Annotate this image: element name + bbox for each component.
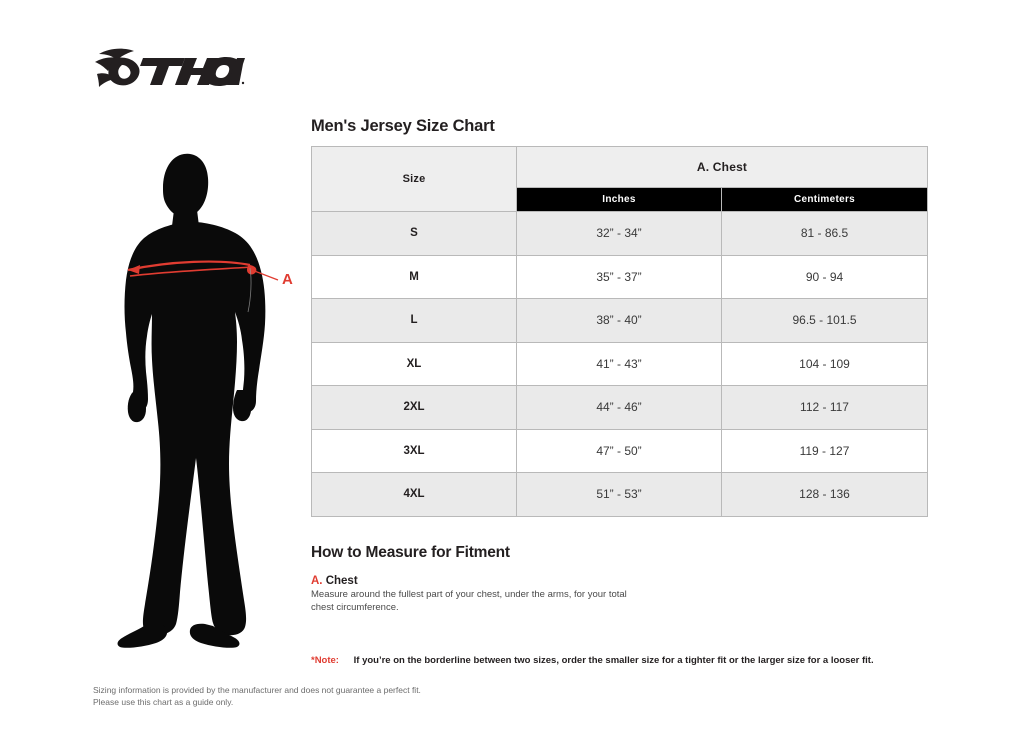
male-silhouette-figure: A [100, 140, 305, 650]
cell-size: M [312, 255, 517, 299]
cell-size: 2XL [312, 386, 517, 430]
cell-size: S [312, 212, 517, 256]
header-chest-group: A. Chest [517, 147, 928, 188]
table-row: XL41” - 43”104 - 109 [312, 342, 928, 386]
cell-chest-centimeters: 128 - 136 [722, 473, 928, 517]
note-row: *Note: If you’re on the borderline betwe… [311, 655, 874, 666]
table-row: S32” - 34”81 - 86.5 [312, 212, 928, 256]
trademark-dot [242, 82, 244, 84]
measure-marker-letter: A. [311, 575, 323, 587]
cell-chest-centimeters: 81 - 86.5 [722, 212, 928, 256]
table-row: 2XL44” - 46”112 - 117 [312, 386, 928, 430]
thor-helmet-icon [95, 49, 140, 87]
cell-size: XL [312, 342, 517, 386]
measure-item-label: A. Chest [311, 575, 358, 587]
table-row: 4XL51” - 53”128 - 136 [312, 473, 928, 517]
table-row: 3XL47” - 50”119 - 127 [312, 429, 928, 473]
table-row: L38” - 40”96.5 - 101.5 [312, 299, 928, 343]
cell-chest-inches: 44” - 46” [517, 386, 722, 430]
thor-wordmark [140, 57, 245, 86]
howto-heading: How to Measure for Fitment [311, 544, 510, 562]
note-keyword: *Note: [311, 655, 339, 666]
measure-item-name: Chest [326, 575, 358, 587]
cell-chest-centimeters: 96.5 - 101.5 [722, 299, 928, 343]
cell-chest-inches: 41” - 43” [517, 342, 722, 386]
silhouette-svg: A [100, 140, 305, 650]
note-text: If you’re on the borderline between two … [354, 655, 874, 666]
cell-chest-centimeters: 104 - 109 [722, 342, 928, 386]
header-centimeters: Centimeters [722, 188, 928, 212]
measure-description: Measure around the fullest part of your … [311, 589, 641, 614]
cell-chest-centimeters: 90 - 94 [722, 255, 928, 299]
page-title: Men's Jersey Size Chart [311, 117, 495, 136]
thor-logo [93, 44, 245, 92]
cell-size: 3XL [312, 429, 517, 473]
cell-chest-inches: 32” - 34” [517, 212, 722, 256]
cell-chest-inches: 38” - 40” [517, 299, 722, 343]
table-header-row-group: Size A. Chest [312, 147, 928, 188]
cell-chest-centimeters: 112 - 117 [722, 386, 928, 430]
disclaimer-line-2: Please use this chart as a guide only. [93, 696, 513, 708]
cell-chest-centimeters: 119 - 127 [722, 429, 928, 473]
table-row: M35” - 37”90 - 94 [312, 255, 928, 299]
header-inches: Inches [517, 188, 722, 212]
cell-size: L [312, 299, 517, 343]
size-chart-table: Size A. Chest Inches Centimeters S32” - … [311, 146, 928, 517]
header-size: Size [312, 147, 517, 212]
table-body: S32” - 34”81 - 86.5M35” - 37”90 - 94L38”… [312, 212, 928, 517]
disclaimer-line-1: Sizing information is provided by the ma… [93, 684, 513, 696]
disclaimer-block: Sizing information is provided by the ma… [93, 684, 513, 708]
thor-logo-svg [93, 44, 245, 92]
cell-chest-inches: 51” - 53” [517, 473, 722, 517]
body-silhouette [118, 154, 266, 648]
cell-chest-inches: 35” - 37” [517, 255, 722, 299]
cell-chest-inches: 47” - 50” [517, 429, 722, 473]
cell-size: 4XL [312, 473, 517, 517]
table-head: Size A. Chest Inches Centimeters [312, 147, 928, 212]
measure-marker-a: A [282, 271, 293, 288]
